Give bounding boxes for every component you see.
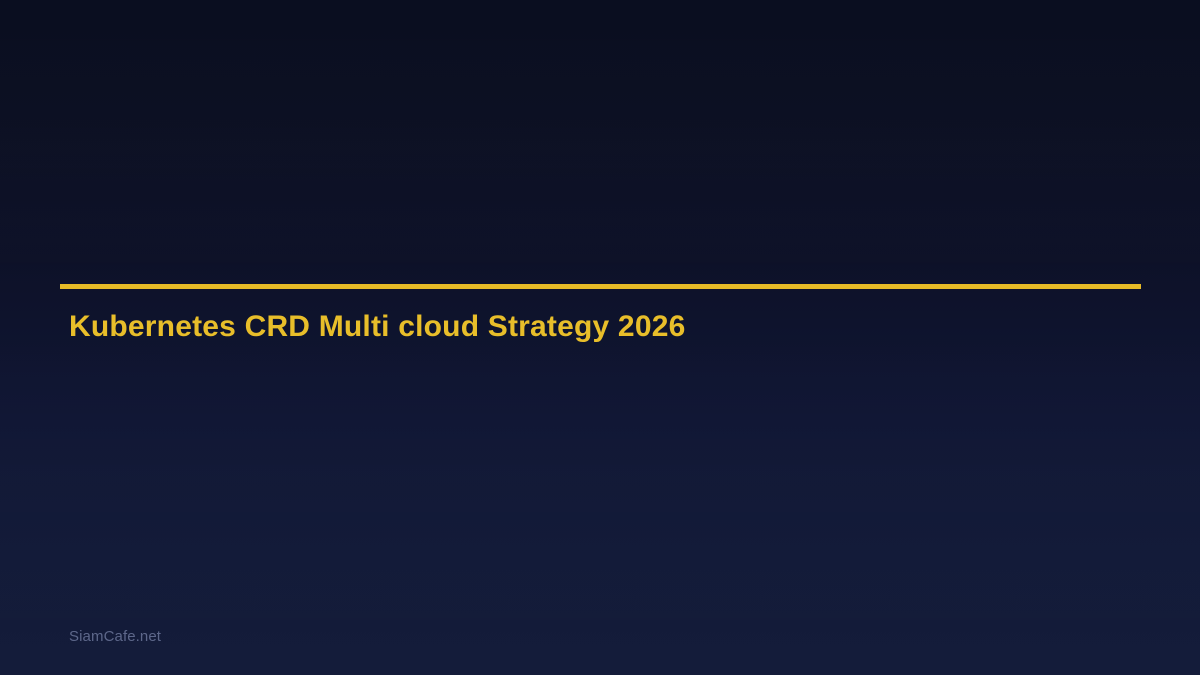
slide-canvas: Kubernetes CRD Multi cloud Strategy 2026… xyxy=(0,0,1200,675)
footer-watermark: SiamCafe.net xyxy=(69,629,161,644)
title-block: Kubernetes CRD Multi cloud Strategy 2026 xyxy=(60,284,1141,345)
page-title: Kubernetes CRD Multi cloud Strategy 2026 xyxy=(60,289,1141,345)
